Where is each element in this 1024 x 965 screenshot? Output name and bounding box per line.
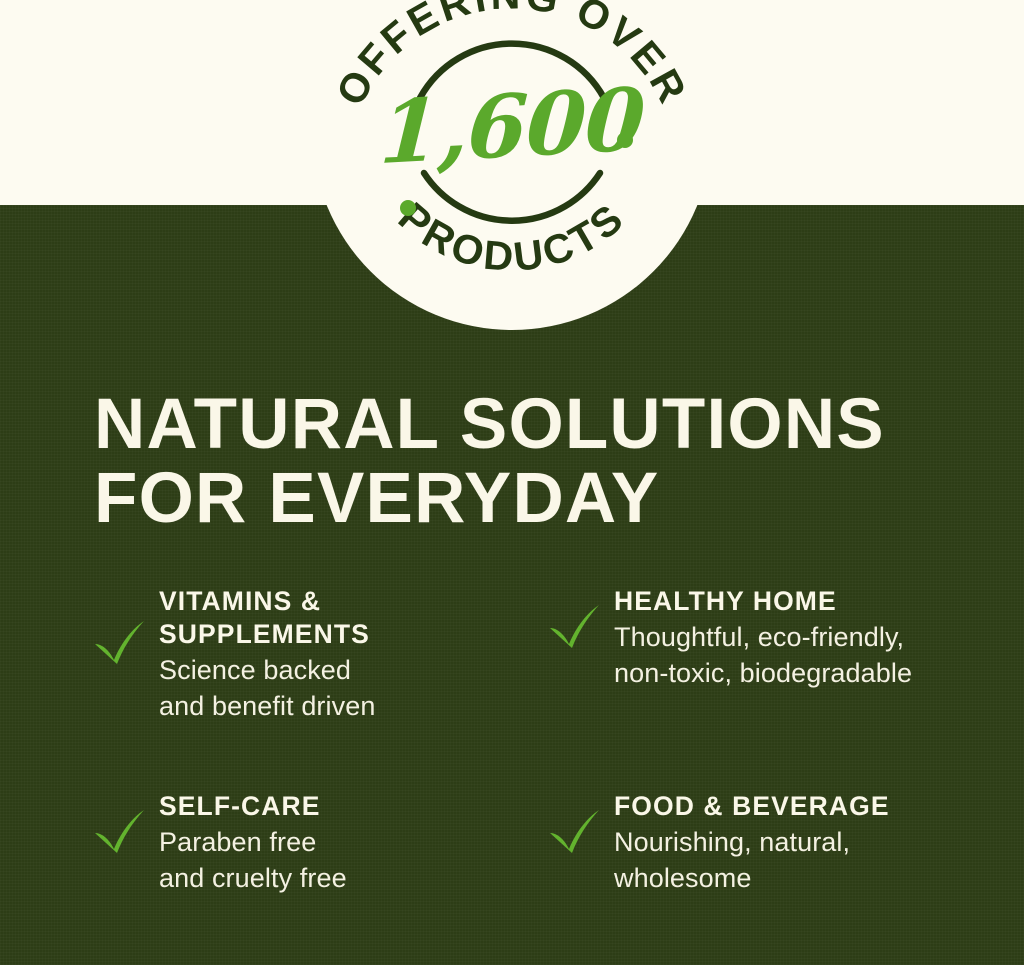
badge-dot-right-icon <box>617 132 633 148</box>
headline-line-1: NATURAL SOLUTIONS <box>94 388 974 462</box>
check-icon <box>92 619 147 665</box>
feature-title: SELF-CARE <box>159 790 347 823</box>
feature-description: Paraben free and cruelty free <box>159 824 347 896</box>
badge-graphic: OFFERING OVER PRODUCTS <box>312 0 712 330</box>
feature-item-healthy-home: HEALTHY HOME Thoughtful, eco-friendly, n… <box>547 585 1002 790</box>
feature-description: Thoughtful, eco-friendly, non-toxic, bio… <box>614 619 912 691</box>
feature-description: Science backed and benefit driven <box>159 652 375 724</box>
feature-list: VITAMINS & SUPPLEMENTS Science backed an… <box>0 585 1024 965</box>
feature-description: Nourishing, natural, wholesome <box>614 824 890 896</box>
badge-inner-arc-top <box>420 44 604 98</box>
feature-text: HEALTHY HOME Thoughtful, eco-friendly, n… <box>614 585 912 691</box>
check-icon <box>547 603 602 649</box>
feature-item-food-beverage: FOOD & BEVERAGE Nourishing, natural, who… <box>547 790 1002 965</box>
promo-poster: OFFERING OVER PRODUCTS 1,600 NATURAL SOL… <box>0 0 1024 965</box>
badge-arc-bottom-text: PRODUCTS <box>390 194 634 281</box>
badge-inner-arc-bottom <box>424 173 600 221</box>
feature-item-vitamins-supplements: VITAMINS & SUPPLEMENTS Science backed an… <box>92 585 547 790</box>
headline-line-2: FOR EVERYDAY <box>94 462 974 536</box>
feature-text: FOOD & BEVERAGE Nourishing, natural, who… <box>614 790 890 896</box>
badge-arc-top-text: OFFERING OVER <box>327 0 697 113</box>
check-icon <box>547 808 602 854</box>
feature-title: VITAMINS & SUPPLEMENTS <box>159 585 375 651</box>
feature-title: HEALTHY HOME <box>614 585 912 618</box>
feature-text: SELF-CARE Paraben free and cruelty free <box>159 790 347 896</box>
feature-title: FOOD & BEVERAGE <box>614 790 890 823</box>
feature-item-self-care: SELF-CARE Paraben free and cruelty free <box>92 790 547 965</box>
badge-dot-left-icon <box>400 200 416 216</box>
page-title: NATURAL SOLUTIONS FOR EVERYDAY <box>94 388 974 536</box>
feature-text: VITAMINS & SUPPLEMENTS Science backed an… <box>159 585 375 724</box>
check-icon <box>92 808 147 854</box>
